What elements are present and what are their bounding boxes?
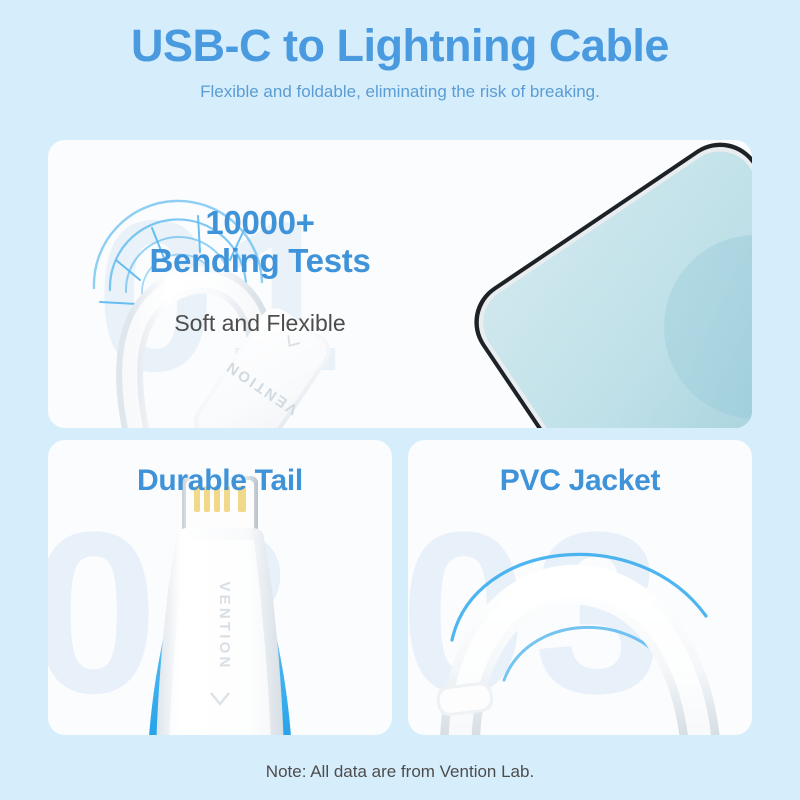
card-3-title: PVC Jacket [408,464,752,498]
page-title: USB-C to Lightning Cable [0,22,800,69]
card-1-heading-line2: Bending Tests [149,242,370,279]
feature-card-durable-tail: 02 [48,440,392,735]
card-1-heading-line1: 10000+ [205,204,314,241]
card-1-text-block: 10000+ Bending Tests Soft and Flexible [110,204,410,337]
svg-text:VENTION: VENTION [216,581,233,670]
header: USB-C to Lightning Cable Flexible and fo… [0,0,800,102]
page-subtitle: Flexible and foldable, eliminating the r… [0,82,800,102]
feature-card-pvc-jacket: 03 [408,440,752,735]
feature-card-bending-tests: 01 [48,140,752,428]
card-1-subtext: Soft and Flexible [110,310,410,337]
card-2-title: Durable Tail [48,464,392,498]
feature-cards-row-2: 02 [48,440,752,735]
footer-note: Note: All data are from Vention Lab. [0,762,800,782]
feature-cards: 01 [48,140,752,735]
